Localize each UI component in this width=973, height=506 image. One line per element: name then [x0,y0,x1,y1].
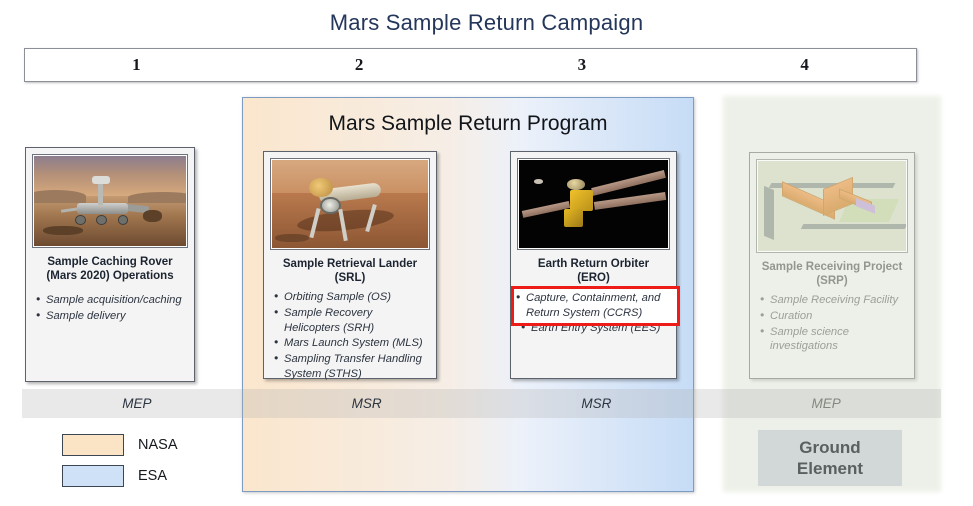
card-heading: Sample Caching Rover (Mars 2020) Operati… [33,255,187,284]
sample-receiving-facility-illustration [757,160,907,252]
card-heading-line2: (Mars 2020) Operations [33,269,187,283]
card-heading-line2: (ERO) [518,271,669,285]
phase-number-bar: 1 2 3 4 [24,48,917,82]
earth-return-orbiter-photo [518,159,669,249]
ccrs-highlight-box: Capture, Containment, and Return System … [511,286,680,326]
phase-number-1: 1 [25,49,248,81]
card-heading-line1: Earth Return Orbiter [518,257,669,271]
phase-number-4: 4 [693,49,916,81]
list-item: Sampling Transfer Handling System (STHS) [273,352,429,382]
card-heading-line1: Sample Retrieval Lander [271,257,429,271]
card-heading-line1: Sample Receiving Project [757,260,907,274]
ground-element-line1: Ground [799,437,860,458]
ground-element-box: Ground Element [758,430,902,486]
list-item: Curation [759,309,907,324]
legend-item-nasa: NASA [62,434,178,456]
card-heading: Earth Return Orbiter (ERO) [518,257,669,286]
legend-label-nasa: NASA [138,437,178,453]
org-label-4: MEP [711,389,941,418]
mars-rover-photo [33,155,187,247]
mars-lander-photo [271,159,429,249]
legend: NASA ESA [62,434,178,496]
card-bullet-list: Sample Receiving Facility Curation Sampl… [757,293,907,355]
organization-band: MEP MSR MSR MEP [22,389,941,418]
list-item: Sample delivery [35,309,187,324]
phase-number-2: 2 [248,49,471,81]
ground-element-line2: Element [797,458,863,479]
card-sample-receiving-project[interactable]: Sample Receiving Project (SRP) Sample Re… [749,152,915,379]
card-bullet-list: Orbiting Sample (OS) Sample Recovery Hel… [271,290,429,382]
card-earth-return-orbiter[interactable]: Earth Return Orbiter (ERO) Capture, Cont… [510,151,677,379]
card-heading-line2: (SRL) [271,271,429,285]
legend-swatch-esa [62,465,124,487]
card-sample-retrieval-lander[interactable]: Sample Retrieval Lander (SRL) Orbiting S… [263,151,437,379]
list-item: Orbiting Sample (OS) [273,290,429,305]
org-label-3: MSR [482,389,712,418]
list-item: Mars Launch System (MLS) [273,336,429,351]
list-item: Sample acquisition/caching [35,293,187,308]
card-bullet-list: Sample acquisition/caching Sample delive… [33,293,187,324]
legend-swatch-nasa [62,434,124,456]
diagram-canvas: Mars Sample Return Campaign 1 2 3 4 Mars… [0,0,973,506]
card-heading-line2: (SRP) [757,274,907,288]
legend-item-esa: ESA [62,465,178,487]
list-item: Sample Receiving Facility [759,293,907,308]
page-title: Mars Sample Return Campaign [0,10,973,36]
msr-program-title: Mars Sample Return Program [243,112,693,136]
org-label-2: MSR [252,389,482,418]
phase-number-3: 3 [471,49,694,81]
list-item: Sample science investigations [759,325,907,355]
card-sample-caching-rover[interactable]: Sample Caching Rover (Mars 2020) Operati… [25,147,195,382]
list-item: Sample Recovery Helicopters (SRH) [273,306,429,336]
ccrs-highlight-label: Capture, Containment, and Return System … [514,291,677,321]
card-heading: Sample Retrieval Lander (SRL) [271,257,429,286]
card-heading: Sample Receiving Project (SRP) [757,260,907,289]
org-label-1: MEP [22,389,252,418]
card-heading-line1: Sample Caching Rover [33,255,187,269]
legend-label-esa: ESA [138,468,167,484]
